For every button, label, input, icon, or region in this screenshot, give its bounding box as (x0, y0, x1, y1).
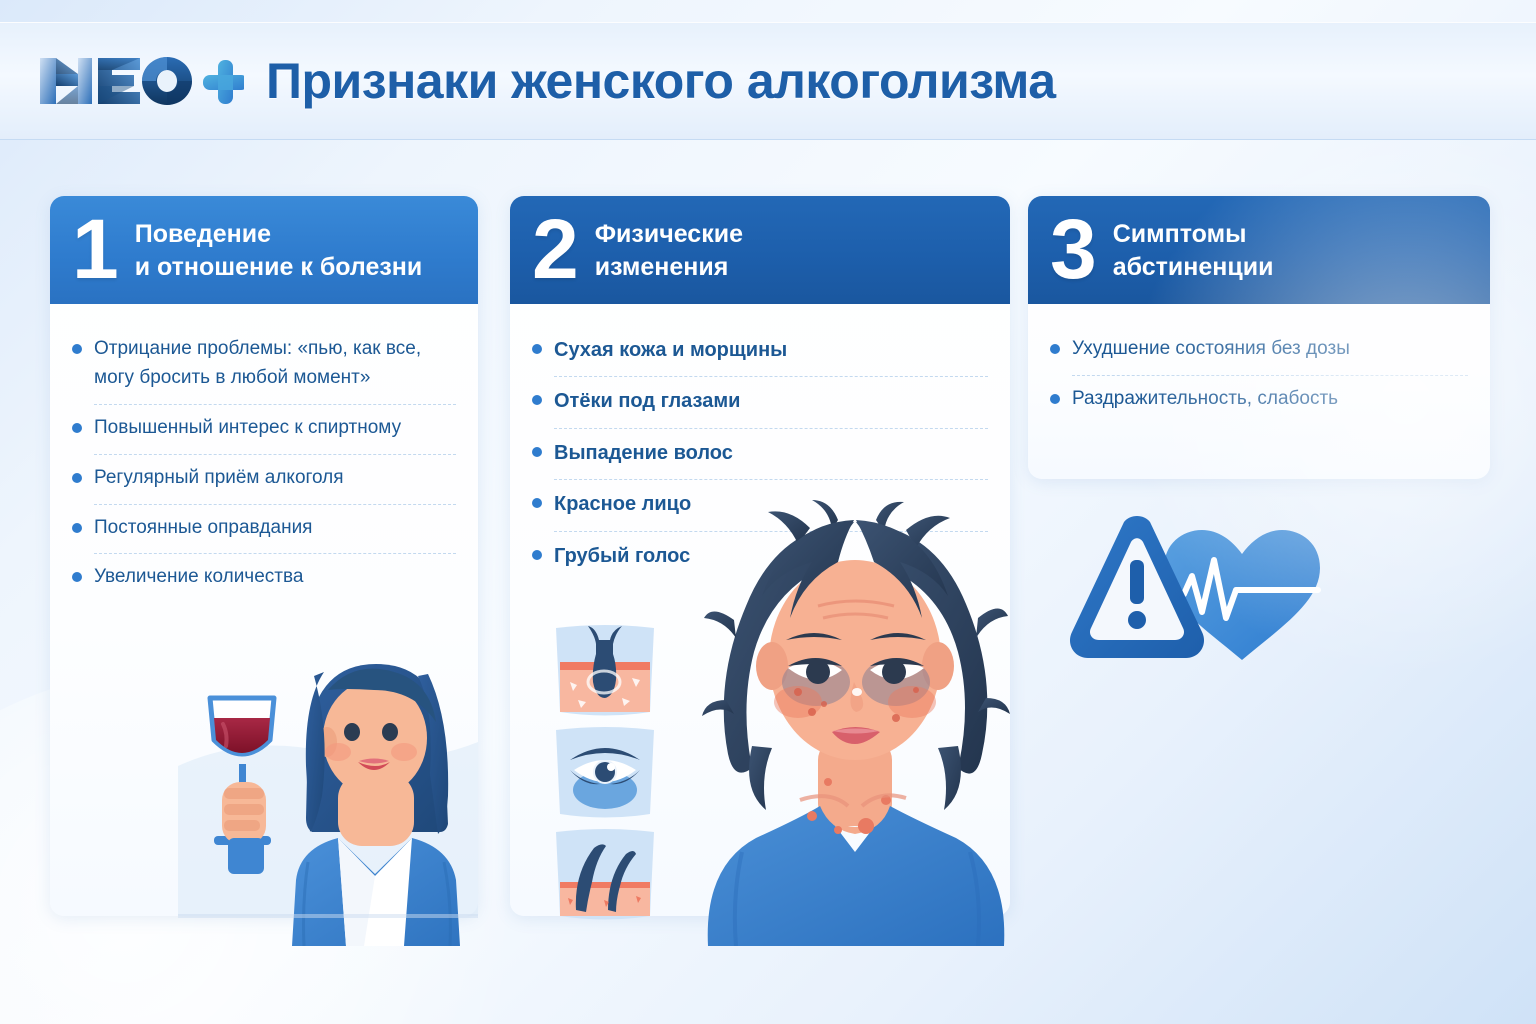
card-2-title-line2: изменения (595, 251, 743, 284)
logo-letter-e (98, 58, 140, 104)
card-3-header: 3 Симптомы абстиненции (1028, 196, 1490, 304)
bullet-dot-icon (532, 447, 542, 457)
red-cheek-right (888, 686, 936, 718)
eye-right (382, 723, 398, 741)
card-1-header: 1 Поведение и отношение к болезни (50, 196, 478, 304)
card-3-number: 3 (1050, 215, 1097, 284)
card-1-title-line1: Поведение (135, 220, 271, 248)
hand (222, 782, 266, 874)
list-item: Отрицание проблемы: «пью, как все, могу … (72, 328, 456, 402)
card-1-number: 1 (72, 215, 119, 284)
list-item: Ухудшение состояния без дозы (1050, 328, 1468, 373)
separator (1072, 375, 1468, 376)
card-3-item-1: Раздражительность, слабость (1072, 385, 1338, 414)
exclamation-bar (1130, 560, 1144, 604)
logo-plus-icon (203, 60, 244, 104)
exclamation-dot (1128, 611, 1146, 629)
bullet-dot-icon (72, 423, 82, 433)
warning-and-heartbeat-illustration (1052, 508, 1324, 668)
card-3-body: Ухудшение состояния без дозы Раздражител… (1028, 304, 1490, 433)
bullet-dot-icon (532, 344, 542, 354)
eye-left (344, 723, 360, 741)
list-item: Выпадение волос (532, 431, 988, 477)
separator (554, 479, 988, 480)
card-1-title: Поведение и отношение к болезни (135, 214, 423, 284)
card-2-item-0: Сухая кожа и морщины (554, 335, 787, 365)
bullet-dot-icon (532, 498, 542, 508)
separator (94, 454, 456, 455)
list-item: Регулярный приём алкоголя (72, 457, 456, 502)
bullet-dot-icon (72, 344, 82, 354)
list-item: Сухая кожа и морщины (532, 328, 988, 374)
card-2-item-3: Красное лицо (554, 489, 691, 519)
separator (94, 553, 456, 554)
bullet-dot-icon (1050, 394, 1060, 404)
card-1-body: Отрицание проблемы: «пью, как все, могу … (50, 304, 478, 611)
card-3-title-line1: Симптомы (1113, 220, 1247, 248)
neo-plus-logo (36, 50, 244, 112)
dry-skin-follicle-icon (556, 625, 654, 716)
infographic-page: Признаки женского алкоголизма 1 Поведени… (0, 0, 1536, 1024)
card-2-number: 2 (532, 215, 579, 284)
separator (554, 428, 988, 429)
separator (554, 376, 988, 377)
card-1-item-0: Отрицание проблемы: «пью, как все, могу … (94, 335, 456, 393)
bullet-dot-icon (532, 395, 542, 405)
bullet-dot-icon (532, 550, 542, 560)
bullet-dot-icon (72, 473, 82, 483)
card-2-header: 2 Физические изменения (510, 196, 1010, 304)
card-3-item-0: Ухудшение состояния без дозы (1072, 335, 1350, 364)
logo-letter-n (40, 58, 92, 104)
eye-bags-icon (556, 727, 654, 818)
page-title: Признаки женского алкоголизма (266, 52, 1056, 110)
card-2-item-1: Отёки под глазами (554, 386, 740, 416)
bullet-dot-icon (72, 572, 82, 582)
card-2-title: Физические изменения (595, 214, 743, 284)
symptom-icon-column (546, 624, 664, 924)
woman-with-wine-glass-illustration (178, 656, 478, 946)
hair-loss-icon (556, 829, 654, 920)
card-3-title: Симптомы абстиненции (1113, 214, 1274, 284)
separator (94, 404, 456, 405)
bullet-dot-icon (72, 523, 82, 533)
list-item: Повышенный интерес к спиртному (72, 407, 456, 452)
page-header: Признаки женского алкоголизма (0, 22, 1536, 140)
card-withdrawal-symptoms: 3 Симптомы абстиненции Ухудшение состоян… (1028, 196, 1490, 479)
list-item: Раздражительность, слабость (1050, 378, 1468, 423)
card-1-item-3: Постоянные оправдания (94, 514, 312, 543)
card-1-item-1: Повышенный интерес к спиртному (94, 414, 401, 443)
card-1-item-2: Регулярный приём алкоголя (94, 464, 344, 493)
card-2-item-4: Грубый голос (554, 541, 690, 571)
card-3-title-line2: абстиненции (1113, 251, 1274, 284)
list-item: Увеличение количества (72, 556, 456, 601)
card-2-title-line1: Физические (595, 220, 743, 248)
list-item: Постоянные оправдания (72, 507, 456, 552)
bullet-dot-icon (1050, 344, 1060, 354)
logo-letter-o (142, 57, 192, 105)
card-1-item-4: Увеличение количества (94, 563, 303, 592)
card-2-item-2: Выпадение волос (554, 438, 733, 468)
card-1-title-line2: и отношение к болезни (135, 251, 423, 284)
list-item: Отёки под глазами (532, 379, 988, 425)
woman-figure (292, 664, 460, 946)
tired-woman-portrait-illustration (690, 500, 1020, 946)
separator (94, 504, 456, 505)
